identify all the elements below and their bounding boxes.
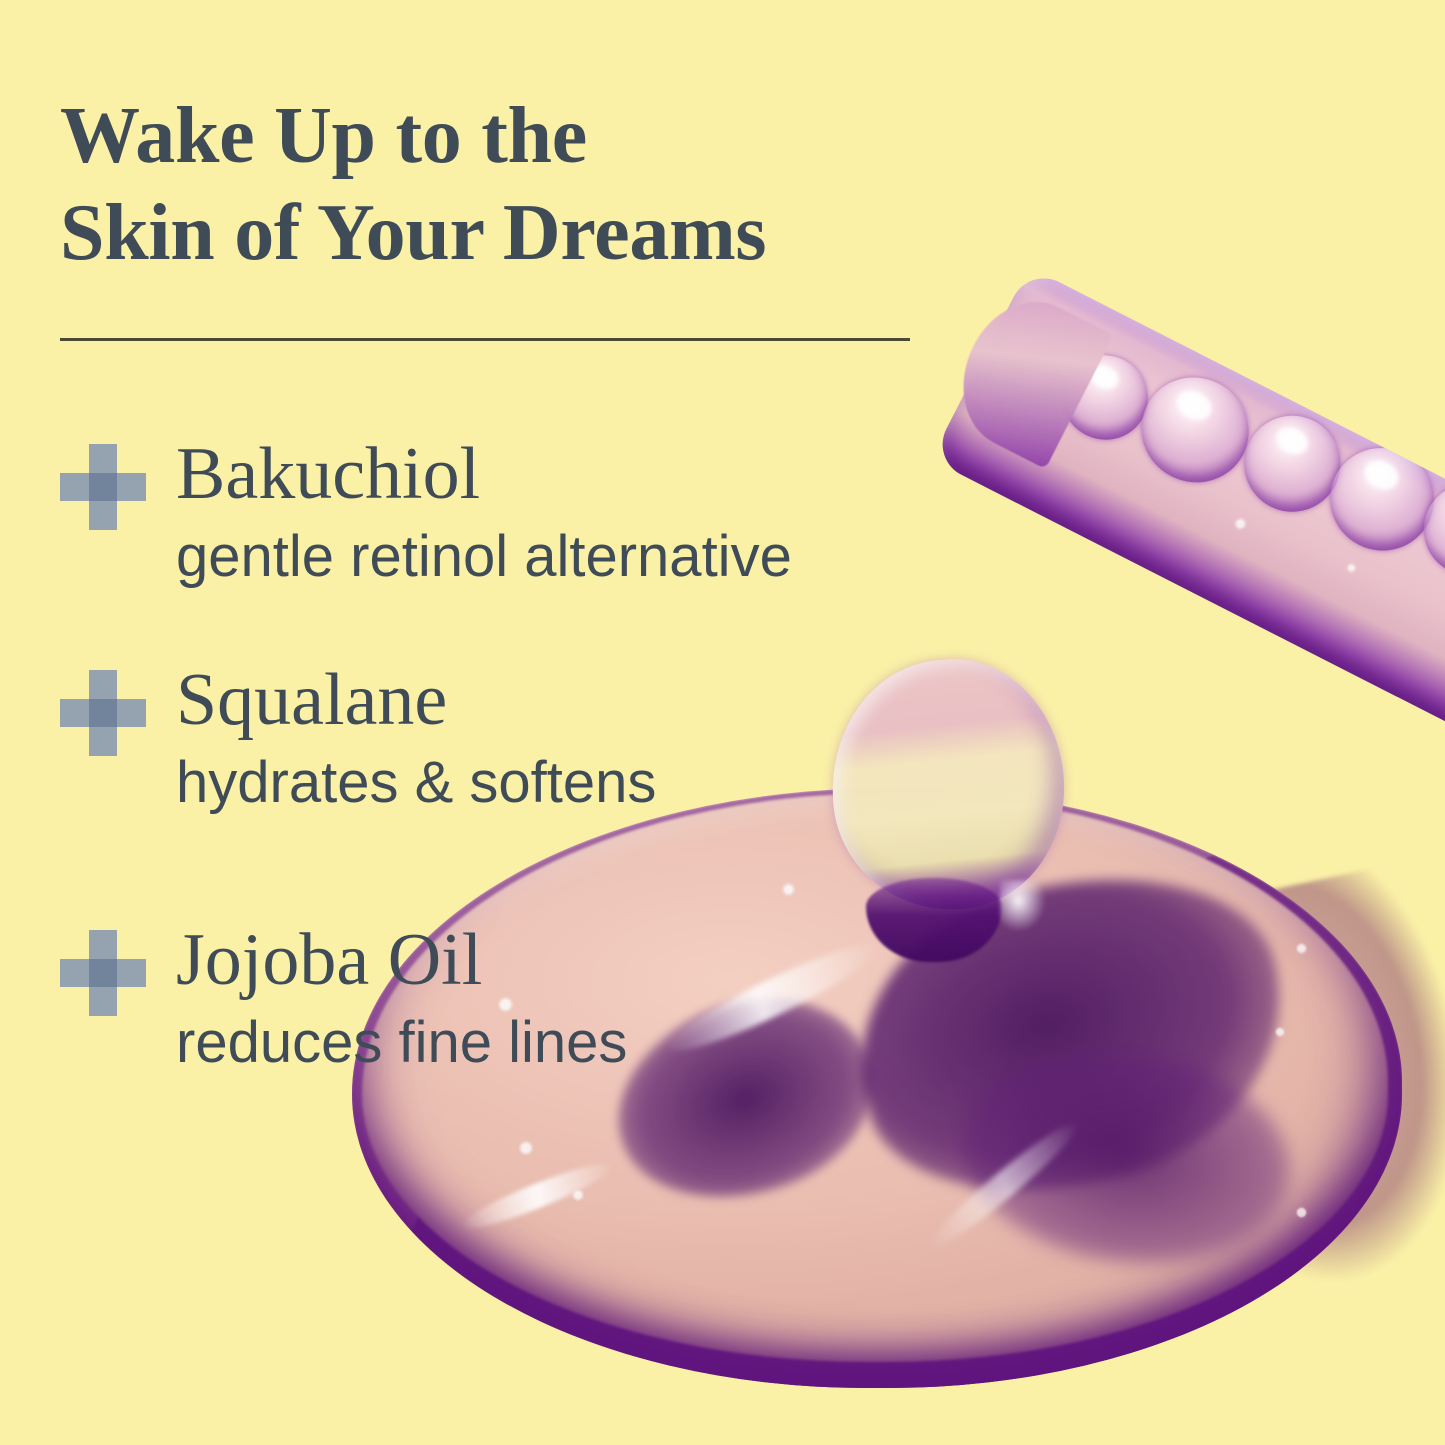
plus-icon xyxy=(60,670,146,756)
benefit-description: gentle retinol alternative xyxy=(176,524,792,590)
page-title: Wake Up to the Skin of Your Dreams xyxy=(60,88,1020,282)
benefit-description: reduces fine lines xyxy=(176,1010,627,1076)
divider xyxy=(60,338,910,341)
text-overlay: Wake Up to the Skin of Your Dreams Bakuc… xyxy=(0,0,1445,1445)
benefit-name: Bakuchiol xyxy=(176,432,480,516)
product-benefits-graphic: Wake Up to the Skin of Your Dreams Bakuc… xyxy=(0,0,1445,1445)
plus-icon xyxy=(60,444,146,530)
benefit-description: hydrates & softens xyxy=(176,750,656,816)
benefit-name: Squalane xyxy=(176,658,447,742)
plus-icon xyxy=(60,930,146,1016)
benefit-name: Jojoba Oil xyxy=(176,918,482,1002)
